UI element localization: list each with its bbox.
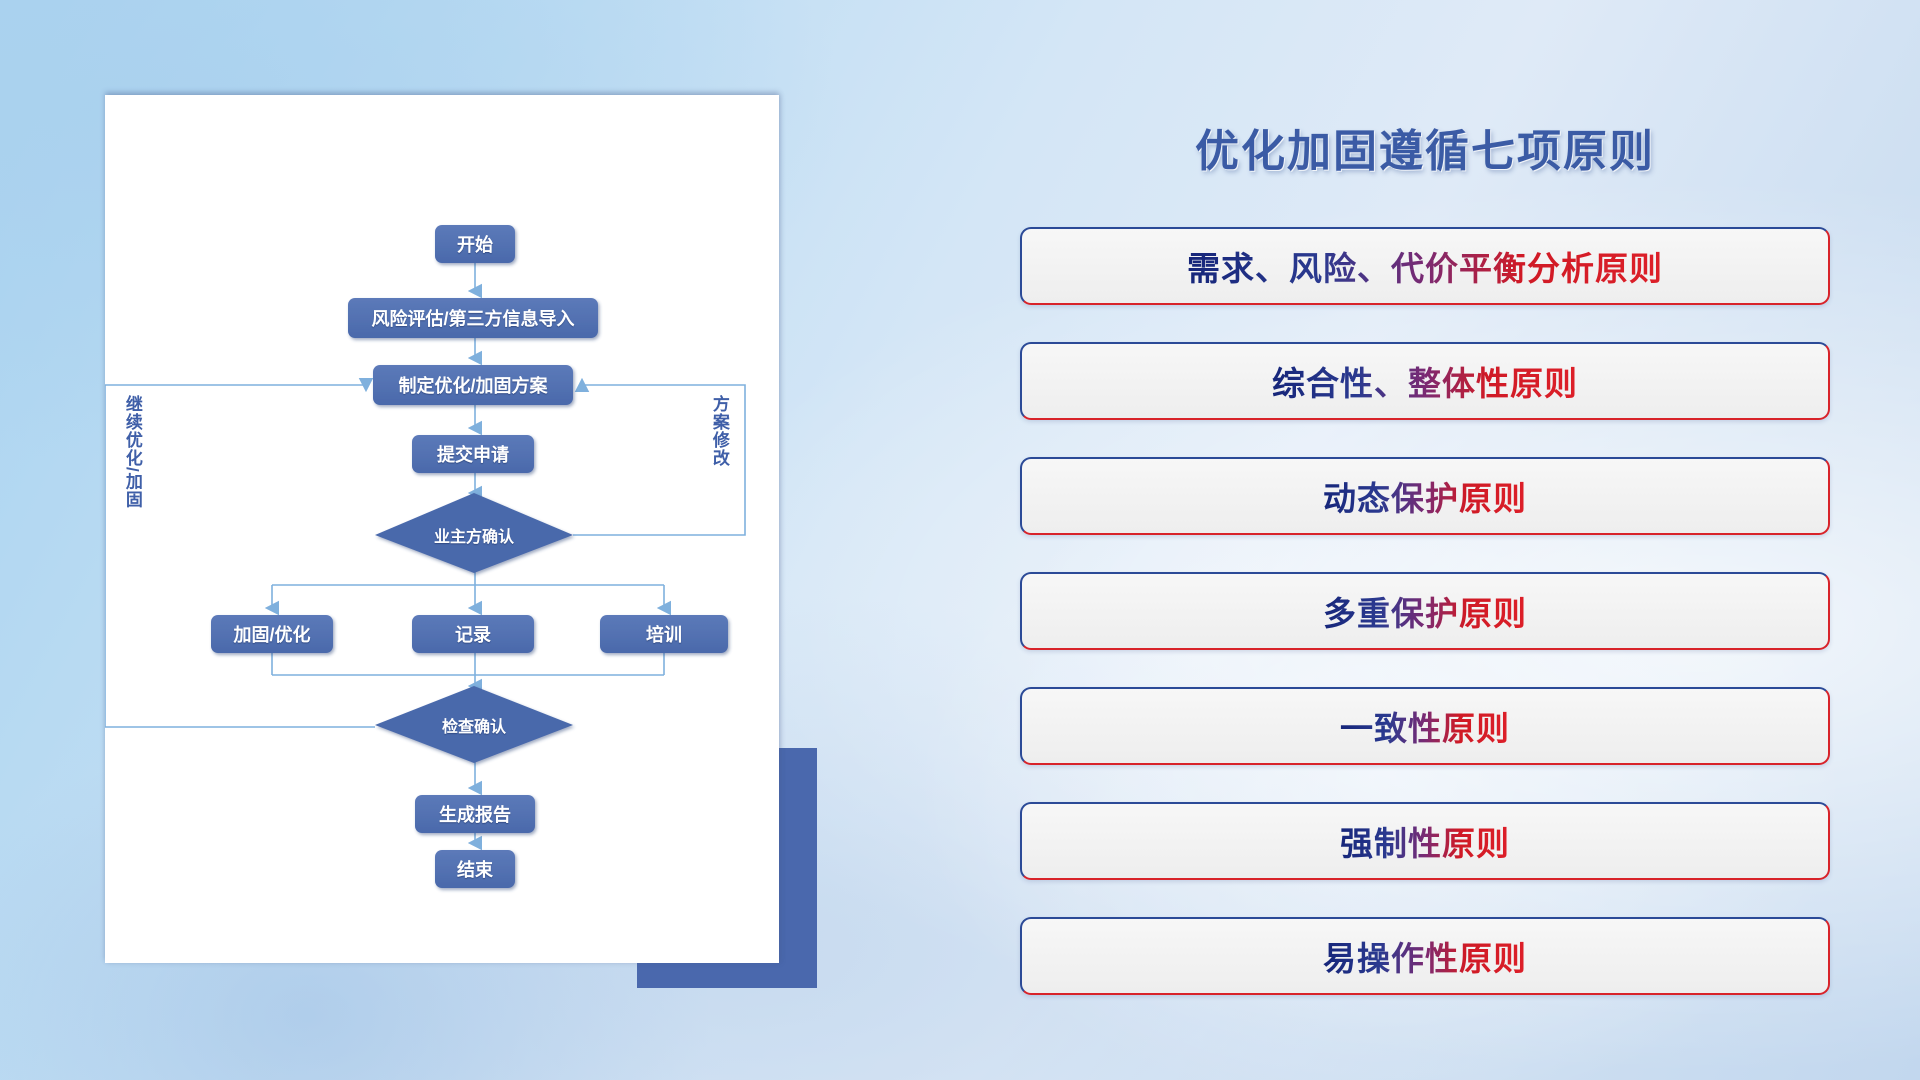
principle-label: 需求、风险、代价平衡分析原则 bbox=[1187, 242, 1663, 290]
principles-panel: 优化加固遵循七项原则 需求、风险、代价平衡分析原则 综合性、整体性原则 动态保护… bbox=[1020, 95, 1830, 995]
flowchart-diagram bbox=[105, 95, 779, 963]
flow-edge-label-plan-revise: 方案修改 bbox=[710, 395, 728, 467]
principle-item[interactable]: 动态保护原则 bbox=[1020, 457, 1830, 535]
flow-node-reinforce bbox=[211, 615, 333, 653]
principle-item[interactable]: 易操作性原则 bbox=[1020, 917, 1830, 995]
flow-node-submit bbox=[412, 435, 534, 473]
principle-label: 强制性原则 bbox=[1340, 817, 1510, 865]
principle-item[interactable]: 一致性原则 bbox=[1020, 687, 1830, 765]
flow-node-risk bbox=[348, 298, 598, 338]
flow-node-report bbox=[415, 795, 535, 833]
principle-item[interactable]: 综合性、整体性原则 bbox=[1020, 342, 1830, 420]
panel-title: 优化加固遵循七项原则 bbox=[1020, 115, 1830, 179]
flow-node-plan bbox=[373, 365, 573, 405]
flowchart-card: 开始 风险评估/第三方信息导入 制定优化/加固方案 提交申请 业主方确认 加固/… bbox=[105, 95, 779, 963]
flow-node-record bbox=[412, 615, 534, 653]
principle-item[interactable]: 多重保护原则 bbox=[1020, 572, 1830, 650]
principle-label: 易操作性原则 bbox=[1323, 932, 1527, 980]
flow-node-check-confirm bbox=[375, 686, 573, 763]
principle-label: 动态保护原则 bbox=[1323, 472, 1527, 520]
principle-item[interactable]: 强制性原则 bbox=[1020, 802, 1830, 880]
principle-label: 多重保护原则 bbox=[1323, 587, 1527, 635]
flow-edge-label-continue-optimize: 继续优化/加固 bbox=[123, 395, 141, 509]
principle-item[interactable]: 需求、风险、代价平衡分析原则 bbox=[1020, 227, 1830, 305]
flow-node-training bbox=[600, 615, 728, 653]
flow-node-owner-confirm bbox=[375, 493, 573, 573]
flow-node-start bbox=[435, 225, 515, 263]
principle-label: 一致性原则 bbox=[1340, 702, 1510, 750]
flow-node-end bbox=[435, 850, 515, 888]
principle-label: 综合性、整体性原则 bbox=[1272, 357, 1578, 405]
principle-list: 需求、风险、代价平衡分析原则 综合性、整体性原则 动态保护原则 多重保护原则 一… bbox=[1020, 227, 1830, 995]
